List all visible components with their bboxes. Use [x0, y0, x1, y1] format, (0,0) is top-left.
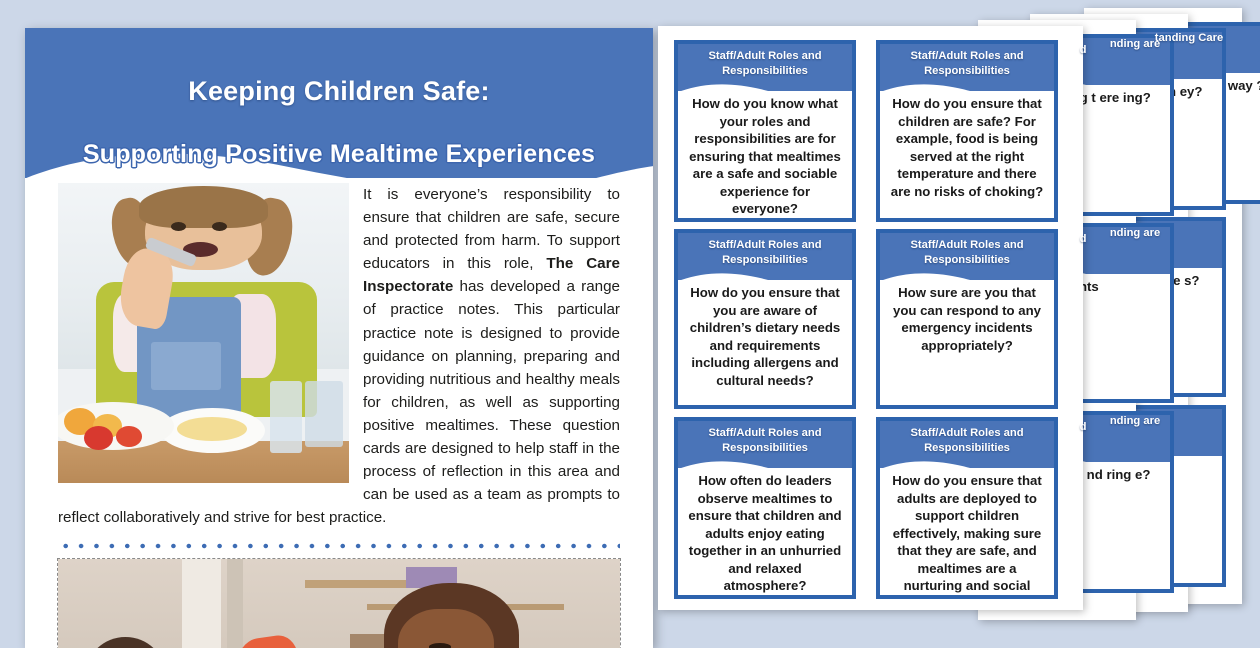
card-header-label: Staff/Adult Roles and Responsibilities [682, 426, 848, 456]
document-header-banner: Keeping Children Safe: Supporting Positi… [25, 28, 653, 178]
card-question: How do you know what your roles and resp… [678, 91, 852, 222]
question-card-6[interactable]: Staff/Adult Roles and Responsibilities H… [876, 417, 1058, 599]
card-header: Staff/Adult Roles and Responsibilities [880, 44, 1054, 91]
card-header-label: Staff/Adult Roles and Responsibilities [884, 238, 1050, 268]
card-question: How do you ensure that children are safe… [880, 91, 1054, 208]
card-header: Staff/Adult Roles and Responsibilities [678, 44, 852, 91]
dotted-divider [58, 543, 620, 549]
card-wave-divider [678, 268, 852, 280]
card-question: How do you ensure that adults are deploy… [880, 468, 1054, 599]
question-card-5[interactable]: Staff/Adult Roles and Responsibilities H… [674, 417, 856, 599]
photo-adult-with-child [58, 559, 620, 648]
card-sheet-front[interactable]: Staff/Adult Roles and Responsibilities H… [658, 26, 1083, 610]
card-header: Staff/Adult Roles and Responsibilities [678, 421, 852, 468]
practice-note-document: Keeping Children Safe: Supporting Positi… [25, 28, 653, 648]
card-wave-divider [678, 79, 852, 91]
question-card-3[interactable]: Staff/Adult Roles and Responsibilities H… [674, 229, 856, 409]
document-body: It is everyone’s responsibility to ensur… [25, 183, 653, 648]
page-title: Keeping Children Safe: [25, 76, 653, 107]
page-subtitle: Supporting Positive Mealtime Experiences [25, 140, 653, 169]
photo-child-eating [58, 183, 349, 483]
card-header-label: Staff/Adult Roles and Responsibilities [682, 238, 848, 268]
question-card-2[interactable]: Staff/Adult Roles and Responsibilities H… [876, 40, 1058, 222]
card-wave-divider [880, 79, 1054, 91]
card-header-label: Staff/Adult Roles and Responsibilities [884, 426, 1050, 456]
card-header: Staff/Adult Roles and Responsibilities [678, 233, 852, 280]
card-question: How sure are you that you can respond to… [880, 280, 1054, 362]
card-question: How do you ensure that you are aware of … [678, 280, 852, 397]
card-header-label: Staff/Adult Roles and Responsibilities [884, 49, 1050, 79]
card-header-label: Staff/Adult Roles and Responsibilities [682, 49, 848, 79]
card-question: How often do leaders observe mealtimes t… [678, 468, 852, 599]
card-header: Staff/Adult Roles and Responsibilities [880, 421, 1054, 468]
card-wave-divider [880, 456, 1054, 468]
question-card-1[interactable]: Staff/Adult Roles and Responsibilities H… [674, 40, 856, 222]
card-header: Staff/Adult Roles and Responsibilities [880, 233, 1054, 280]
card-wave-divider [880, 268, 1054, 280]
card-wave-divider [678, 456, 852, 468]
question-card-4[interactable]: Staff/Adult Roles and Responsibilities H… [876, 229, 1058, 409]
intro-section: It is everyone’s responsibility to ensur… [58, 183, 620, 529]
